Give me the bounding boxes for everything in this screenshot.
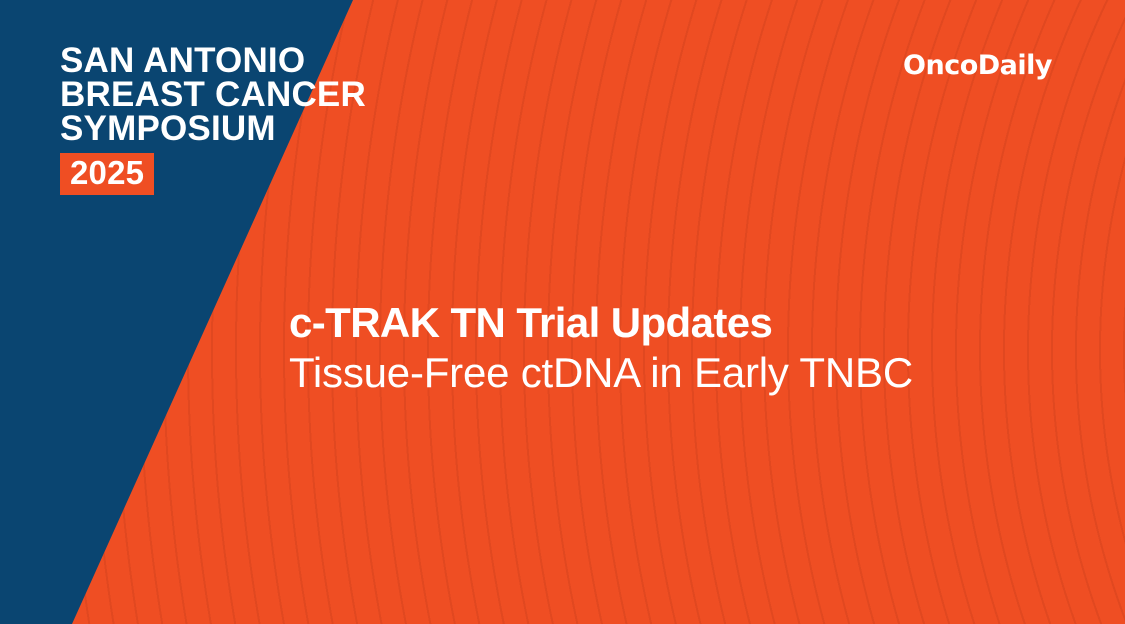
- headline-subtitle: Tissue-Free ctDNA in Early TNBC: [289, 347, 989, 399]
- headline-title: c-TRAK TN Trial Updates: [289, 298, 989, 347]
- oncodaily-logo: OncoDaily: [903, 51, 1052, 81]
- conference-logo-line-1: SAN ANTONIO: [60, 44, 366, 78]
- slide-canvas: SAN ANTONIO BREAST CANCER SYMPOSIUM 2025…: [0, 0, 1125, 624]
- conference-logo: SAN ANTONIO BREAST CANCER SYMPOSIUM 2025: [60, 44, 366, 195]
- conference-year-badge: 2025: [60, 153, 154, 195]
- conference-logo-line-3: SYMPOSIUM: [60, 112, 366, 146]
- headline-block: c-TRAK TN Trial Updates Tissue-Free ctDN…: [289, 298, 989, 399]
- conference-logo-line-2: BREAST CANCER: [60, 78, 366, 112]
